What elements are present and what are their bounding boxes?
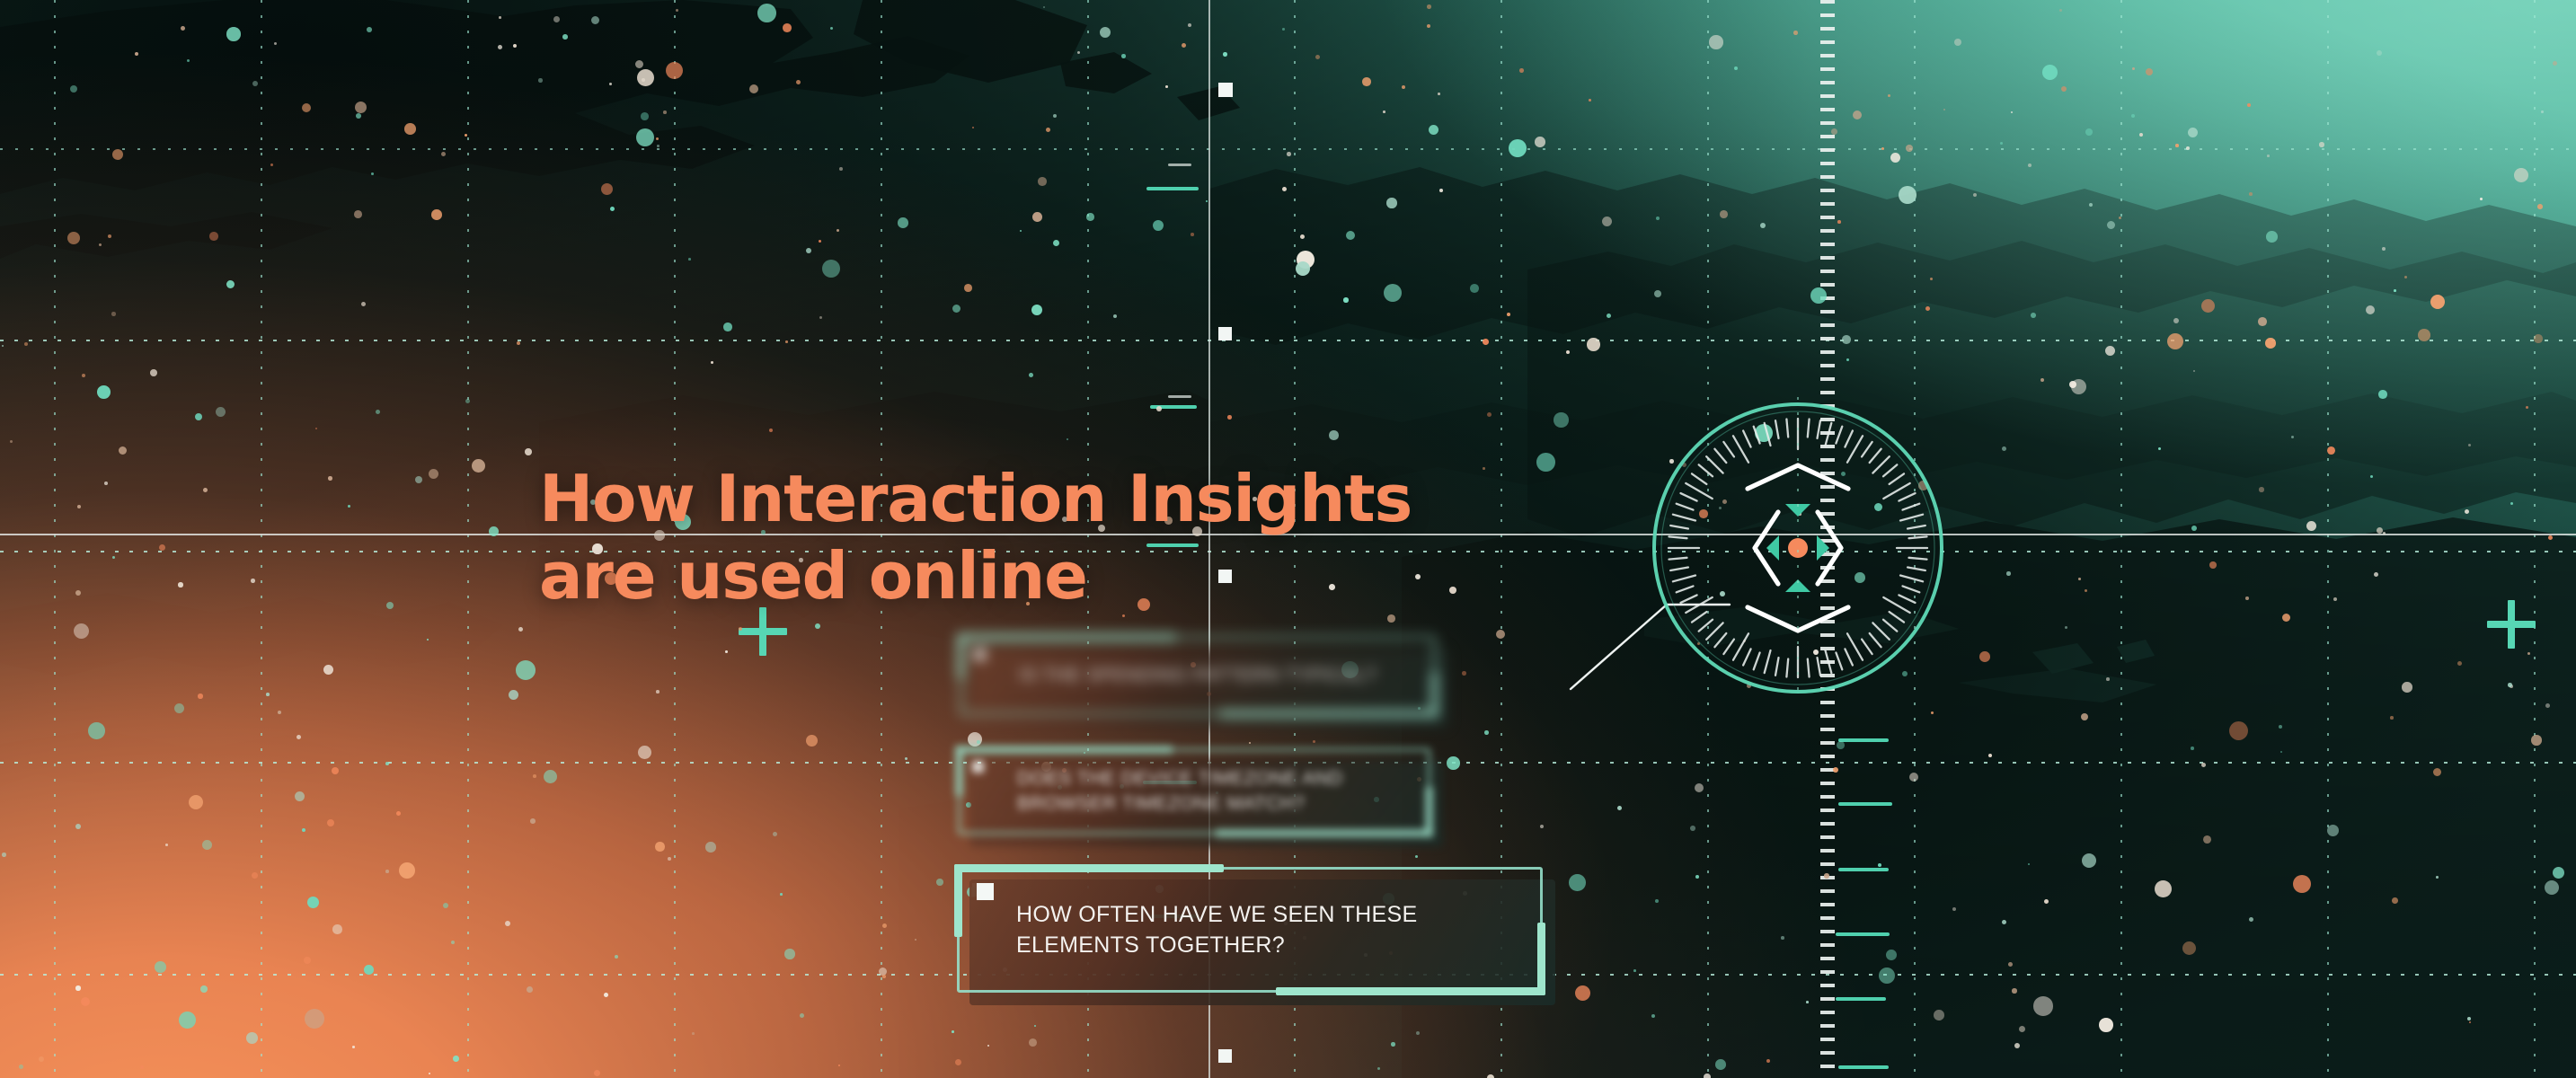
particle-dot [1881,147,1884,150]
particle-dot [1315,55,1320,59]
particle-dot [838,1065,840,1066]
particle-dot [453,1056,459,1062]
particle-dot [441,152,446,156]
particle-dot [2006,571,2011,576]
particle-dot [1695,875,1699,879]
particle-dot [637,69,654,86]
particle-dot [2209,561,2217,569]
particle-dot [898,217,908,228]
particle-dot [1899,186,1917,204]
card-question-text: DOES THE DEVICE TIMEZONE AND BROWSER TIM… [1017,766,1394,817]
particle-dot [2131,114,2135,118]
particle-dot [429,1073,430,1074]
particle-dot [385,870,389,873]
particle-dot [692,1032,695,1035]
particle-dot [75,590,81,596]
particle-dot [819,240,821,243]
particle-dot [75,824,81,829]
particle-dot [2541,110,2544,113]
particle-dot [1930,278,1933,280]
particle-dot [465,134,467,137]
particle-dot [822,260,840,278]
particle-dot [1362,77,1371,86]
particle-dot [1483,467,1485,470]
crosshair-marker-right [2487,600,2536,649]
particle-dot [656,690,659,694]
tick-dash [1150,405,1197,409]
particle-dot [635,60,643,68]
particle-dot [2480,198,2483,200]
particle-dot [108,234,111,238]
particle-dot [1046,128,1050,132]
card-bracket-bottom-right [1216,829,1433,837]
tick-dash [1168,395,1191,398]
particle-dot [209,232,218,241]
particle-dot [656,137,659,140]
particle-dot [1067,438,1068,440]
particle-dot [509,690,518,700]
particle-dot [2044,899,2049,904]
particle-dot [1462,671,1466,676]
particle-dot [364,965,374,975]
particle-dot [472,459,485,473]
particle-dot [1766,1059,1770,1063]
particle-dot [1438,93,1440,95]
particle-dot [2089,203,2093,207]
tick-dash [1168,163,1191,166]
particle-dot [1383,110,1385,113]
particle-dot [2418,329,2430,341]
particle-dot [1038,177,1047,186]
tick-dash [1146,187,1199,190]
particle-dot [1575,985,1590,1001]
particle-dot [725,650,728,653]
particle-dot [81,997,90,1006]
particle-dot [517,341,520,345]
particle-dot [2099,1018,2113,1032]
particle-dot [525,448,532,455]
particle-dot [1121,54,1126,58]
particle-dot [451,941,455,944]
particle-dot [1566,350,1570,354]
particle-dot [2011,111,2013,113]
particle-dot [663,110,667,114]
particle-dot [1704,1074,1711,1078]
particle-dot [2107,221,2115,229]
particle-dot [977,740,980,744]
particle-dot [2028,863,2030,865]
particle-dot [2306,521,2316,531]
grid-line-vertical [54,0,56,1078]
particle-dot [104,482,108,485]
particle-dot [1617,806,1622,810]
particle-dot [2467,1017,2471,1021]
particle-dot [295,791,305,801]
particle-dot [601,183,613,195]
particle-dot [2081,713,2088,720]
particle-dot [1206,200,1208,202]
particle-dot [2008,962,2013,967]
particle-dot [307,897,319,908]
particle-dot [2229,721,2248,740]
particle-dot [112,556,115,559]
particle-dot [2012,988,2017,994]
particle-dot [302,828,305,832]
particle-dot [1053,114,1057,118]
particle-dot [1654,290,1661,297]
particle-dot [2249,917,2253,922]
particle-dot [830,27,833,30]
particle-dot [657,145,659,147]
particle-dot [1227,415,1232,420]
particle-dot [2537,204,2543,209]
particle-dot [2510,502,2513,505]
particle-dot [266,693,270,696]
particle-dot [1020,230,1022,232]
card-bracket-top-left [957,633,1176,641]
particle-dot [1343,297,1349,303]
particle-dot [1952,907,1956,911]
particle-dot [399,862,415,879]
particle-dot [1249,742,1251,744]
particle-dot [1781,936,1784,940]
particle-dot [1427,24,1430,28]
particle-dot [1313,740,1315,743]
particle-dot [2191,747,2194,750]
particle-dot [99,243,102,246]
particle-dot [2059,9,2062,12]
particle-dot [2078,578,2081,580]
page-title: How Interaction Insights are used online [539,460,1412,614]
particle-dot [2377,50,2382,56]
particle-dot [2186,146,2190,150]
particle-dot [246,1032,258,1044]
particle-dot [2193,370,2195,372]
grid-line-vertical [261,0,262,1078]
particle-dot [688,258,691,261]
particle-dot [2430,295,2445,309]
tick-dash [1836,997,1886,1001]
particle-dot [785,340,788,343]
particle-dot [203,488,208,492]
particle-dot [327,819,334,826]
particle-dot [150,369,157,376]
particle-dot [181,26,185,31]
particle-dot [2279,725,2282,729]
particle-dot [642,78,645,82]
particle-dot [2019,1026,2025,1032]
particle-dot [2132,67,2135,70]
particle-dot [516,660,536,680]
particle-dot [252,81,258,86]
particle-dot [252,872,258,879]
particle-dot [24,342,28,346]
particle-dot [666,62,683,79]
particle-dot [2390,716,2394,720]
particle-dot [837,229,839,232]
grid-line-horizontal [0,340,2576,341]
grid-line-vertical [2534,0,2536,1078]
particle-dot [1535,137,1545,147]
particle-dot [604,993,608,997]
particle-dot [159,544,165,551]
particle-dot [1888,94,1890,97]
particle-dot [1715,1059,1726,1070]
particle-dot [819,316,822,319]
particle-dot [251,579,255,583]
particle-dot [2247,103,2251,107]
particle-dot [2265,338,2276,349]
particle-dot [1484,730,1489,735]
particle-dot [112,149,123,160]
particle-dot [1656,216,1660,220]
particle-dot [155,961,166,973]
particle-dot [1909,773,1918,782]
particle-dot [1386,198,1397,208]
particle-dot [2061,86,2067,92]
particle-dot [796,80,801,84]
particle-dot [1287,152,1291,156]
particle-dot [1282,187,1287,191]
particle-dot [2014,1043,2020,1048]
particle-dot [2085,128,2093,136]
crosshair-marker-left [739,607,787,656]
square-marker [1218,327,1232,340]
particle-dot [1282,28,1285,31]
particle-dot [2173,318,2179,323]
particle-dot [1879,968,1895,984]
particle-dot [77,505,81,508]
particle-dot [2042,65,2058,80]
particle-dot [226,27,241,41]
particle-dot [2249,192,2253,196]
particle-dot [1415,574,1421,579]
particle-dot [198,694,203,699]
particle-dot [1651,1014,1655,1018]
particle-dot [1391,1042,1395,1047]
particle-dot [2031,313,2036,318]
particle-dot [1029,1038,1037,1047]
particle-dot [1837,220,1841,224]
particle-dot [2366,305,2375,314]
particle-dot [179,1012,196,1029]
particle-dot [216,407,226,417]
particle-dot [195,413,202,420]
particle-dot [1496,630,1505,639]
targeting-reticle [1647,397,1949,699]
particle-dot [499,16,501,19]
particle-dot [297,735,301,739]
particle-dot [2457,661,2462,666]
particle-dot [67,232,80,244]
particle-dot [1554,412,1569,428]
grid-line-horizontal [0,148,2576,150]
particle-dot [315,428,317,429]
particle-dot [189,795,203,809]
particle-dot [386,602,394,609]
particle-dot [1954,39,1961,46]
particle-dot [638,746,651,759]
particle-dot [955,1059,961,1065]
particle-dot [641,112,649,120]
particle-dot [2139,133,2143,137]
particle-dot [2,853,6,857]
particle-dot [1587,338,1600,351]
particle-dot [1842,335,1851,344]
particle-dot [705,842,716,853]
particle-dot [2534,334,2543,343]
particle-dot [1402,85,1405,89]
particle-dot [332,924,342,934]
particle-dot [1043,6,1045,8]
particle-dot [1507,313,1510,316]
particle-dot [1053,240,1059,246]
card-bracket-bottom-right [1276,987,1545,995]
particle-dot [655,842,665,852]
particle-dot [2158,447,2161,450]
particle-dot [723,323,732,331]
particle-dot [415,476,422,483]
particle-dot [505,921,510,926]
question-card-timezone-match[interactable]: DOES THE DEVICE TIMEZONE AND BROWSER TIM… [958,748,1430,835]
particle-dot [2191,526,2197,531]
particle-dot [905,757,907,760]
grid-line-vertical [467,0,469,1078]
card-status-marker [977,883,994,900]
particle-dot [530,818,536,824]
particle-dot [1906,145,1913,152]
particle-dot [839,167,843,171]
particle-dot [2327,446,2335,455]
particle-dot [2071,379,2086,394]
particle-dot [1633,969,1636,972]
particle-dot [1387,614,1395,623]
particle-dot [2201,763,2206,767]
particle-dot [178,582,183,588]
particle-dot [2146,68,2153,75]
particle-dot [1182,43,1186,48]
particle-dot [2188,128,2198,137]
particle-dot [111,312,116,316]
particle-dot [2266,231,2278,243]
card-status-marker [974,649,986,660]
particle-dot [2002,920,2006,924]
tick-dash [1838,868,1889,871]
particle-dot [1569,874,1586,891]
particle-dot [987,1045,989,1047]
particle-dot [2201,299,2215,313]
question-card-spending-pattern[interactable]: IS THE SPENDING PATTERN TYPICAL? [960,636,1436,715]
particle-dot [2553,61,2557,66]
grid-line-vertical [2120,0,2122,1078]
particle-dot [1690,826,1695,831]
particle-dot [1878,863,1881,867]
particle-dot [1223,52,1227,57]
particle-dot [1153,220,1164,231]
particle-dot [2282,614,2290,622]
particle-dot [39,1056,44,1062]
particle-dot [2545,703,2550,708]
particle-dot [773,832,777,836]
particle-dot [1191,233,1194,236]
card-question-text: HOW OFTEN HAVE WE SEEN THESE ELEMENTS TO… [1016,899,1507,960]
particle-dot [553,16,560,22]
card-bracket-top-left [957,633,965,679]
particle-dot [2291,436,2294,438]
particle-dot [323,665,333,675]
particle-dot [2527,652,2530,655]
particle-dot [636,128,654,146]
particle-dot [879,968,887,976]
particle-dot [498,45,502,49]
particle-dot [348,505,350,508]
particle-dot [2377,527,2383,534]
particle-dot [2040,378,2044,382]
particle-dot [2065,626,2067,629]
particle-dot [1509,139,1527,157]
particle-dot [1086,213,1094,221]
particle-dot [1734,66,1738,70]
particle-dot [1297,251,1315,269]
particle-dot [2436,876,2439,879]
particle-dot [2105,346,2115,356]
particle-dot [2203,835,2211,844]
particle-dot [2510,685,2513,688]
particle-dot [964,284,972,292]
particle-dot [2167,333,2183,349]
particle-dot [376,410,380,414]
particle-dot [615,955,618,959]
particle-dot [1165,85,1168,88]
particle-dot [2433,768,2441,776]
particle-dot [2508,683,2512,687]
particle-dot [2545,880,2559,895]
question-card-elements-together[interactable]: HOW OFTEN HAVE WE SEEN THESE ELEMENTS TO… [957,867,1543,993]
particle-dot [429,469,438,479]
particle-dot [527,986,533,993]
particle-dot [2,345,4,347]
card-bracket-bottom-right [1430,672,1438,718]
particle-dot [1988,754,1992,757]
particle-dot [2082,853,2096,868]
particle-dot [2374,572,2378,577]
particle-dot [2267,155,2270,157]
square-marker [1218,83,1233,97]
particle-dot [1470,284,1479,293]
particle-dot [278,711,281,714]
particle-dot [1429,125,1438,135]
particle-dot [371,172,374,175]
particle-dot [1760,223,1766,228]
particle-dot [1100,27,1111,38]
particle-dot [952,305,960,313]
particle-dot [304,957,311,964]
particle-dot [2028,163,2032,167]
particle-dot [1925,306,1930,311]
particle-dot [784,949,795,959]
particle-dot [465,399,470,403]
particle-dot [135,52,138,56]
particle-dot [2319,142,2324,147]
particle-dot [968,732,982,747]
particle-dot [1846,358,1849,361]
particle-dot [1487,412,1492,417]
particle-dot [274,42,277,45]
particle-dot [2553,867,2564,879]
particle-dot [2069,381,2076,388]
particle-dot [1931,711,1934,714]
particle-dot [2382,247,2386,251]
